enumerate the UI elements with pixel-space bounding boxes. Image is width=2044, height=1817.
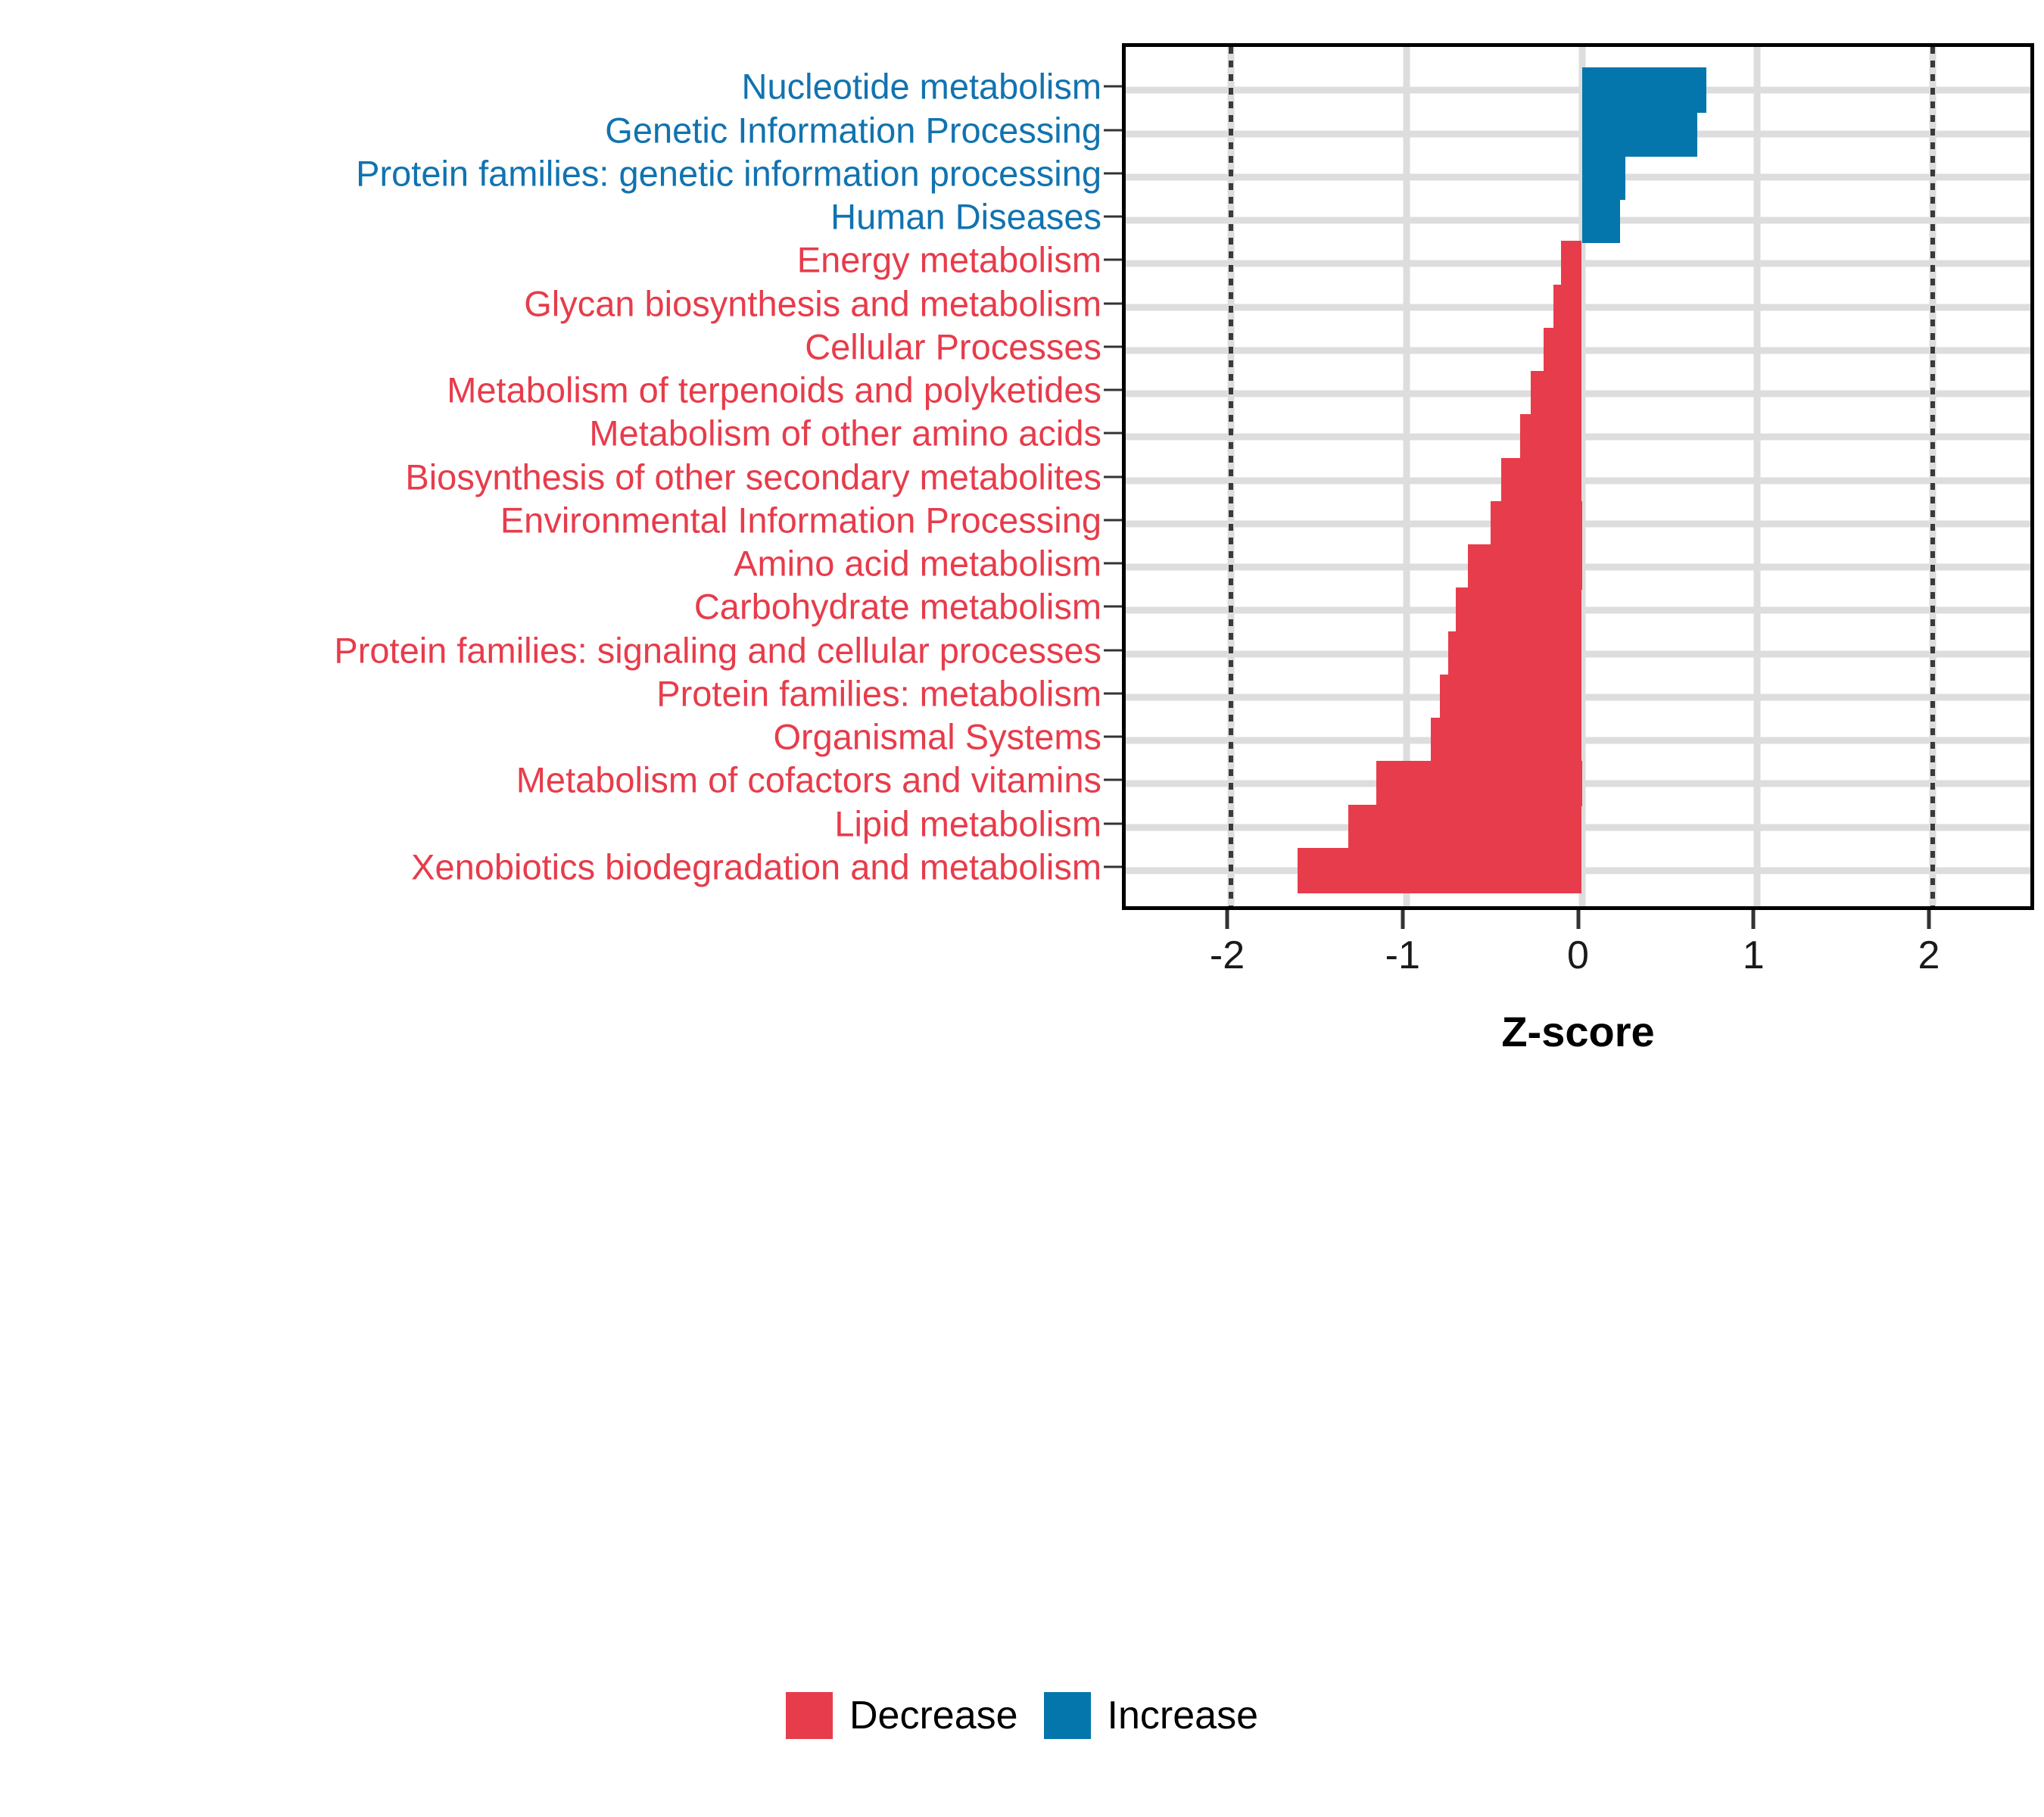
y-axis-tick-label: Human Diseases xyxy=(0,199,1101,235)
y-axis-tick-label: Environmental Information Processing xyxy=(0,502,1101,538)
legend-label: Increase xyxy=(1108,1693,1258,1738)
y-axis-tick-mark xyxy=(1104,302,1122,304)
x-axis-title: Z-score xyxy=(1122,1007,2034,1056)
x-axis-tick-mark xyxy=(1401,910,1404,929)
bar xyxy=(1448,631,1581,677)
y-axis-tick-label: Protein families: genetic information pr… xyxy=(0,155,1101,191)
x-axis-tick-label: 2 xyxy=(1918,933,1940,978)
horizontal-gridline xyxy=(1126,130,2030,137)
bar xyxy=(1468,544,1582,590)
y-axis-tick-mark xyxy=(1104,519,1122,521)
horizontal-gridline xyxy=(1126,87,2030,94)
reference-line xyxy=(1229,47,1233,906)
legend-entry[interactable]: Increase xyxy=(1044,1692,1258,1739)
x-axis-tick-label: -1 xyxy=(1385,933,1420,978)
x-axis: -2-1012 xyxy=(1122,910,2034,1001)
y-axis-tick-label: Glycan biosynthesis and metabolism xyxy=(0,285,1101,321)
y-axis-tick-mark xyxy=(1104,822,1122,824)
y-axis-tick-label: Metabolism of terpenoids and polyketides xyxy=(0,372,1101,408)
y-axis-tick-label: Metabolism of cofactors and vitamins xyxy=(0,762,1101,798)
y-axis-tick-label: Organismal Systems xyxy=(0,719,1101,755)
x-axis-tick-mark xyxy=(1752,910,1756,929)
y-axis-tick-mark xyxy=(1104,692,1122,694)
y-axis-tick-mark xyxy=(1104,649,1122,651)
y-axis-tick-mark xyxy=(1104,172,1122,174)
y-axis-tick-label: Protein families: metabolism xyxy=(0,675,1101,711)
bar xyxy=(1520,414,1581,460)
legend-swatch xyxy=(786,1692,833,1739)
y-axis-tick-mark xyxy=(1104,475,1122,478)
bar xyxy=(1582,198,1621,243)
y-axis-tick-mark xyxy=(1104,606,1122,608)
y-axis-tick-mark xyxy=(1104,259,1122,261)
bar xyxy=(1431,718,1581,763)
x-axis-tick-label: -2 xyxy=(1210,933,1245,978)
y-axis-tick-label: Cellular Processes xyxy=(0,329,1101,364)
bar xyxy=(1376,761,1581,806)
reference-line xyxy=(1930,47,1935,906)
y-axis-tick-label: Carbohydrate metabolism xyxy=(0,589,1101,625)
bar xyxy=(1348,805,1581,850)
y-axis-tick-mark xyxy=(1104,216,1122,218)
y-axis-tick-label: Metabolism of other amino acids xyxy=(0,416,1101,451)
x-axis-tick-mark xyxy=(1576,910,1580,929)
bar xyxy=(1582,154,1626,200)
bar xyxy=(1561,241,1582,286)
y-axis-tick-mark xyxy=(1104,865,1122,868)
y-axis-tick-label: Genetic Information Processing xyxy=(0,112,1101,148)
y-axis-tick-label: Protein families: signaling and cellular… xyxy=(0,632,1101,668)
y-axis-tick-mark xyxy=(1104,432,1122,435)
y-axis-tick-label: Nucleotide metabolism xyxy=(0,69,1101,104)
y-axis-label-column: Nucleotide metabolismGenetic Information… xyxy=(0,43,1122,910)
y-axis-tick-mark xyxy=(1104,129,1122,131)
horizontal-gridline xyxy=(1126,217,2030,224)
legend-swatch xyxy=(1044,1692,1091,1739)
legend-entry[interactable]: Decrease xyxy=(786,1692,1018,1739)
y-axis-tick-mark xyxy=(1104,779,1122,781)
bar xyxy=(1456,587,1582,633)
bar xyxy=(1582,111,1698,157)
legend-label: Decrease xyxy=(849,1693,1018,1738)
y-axis-tick-label: Lipid metabolism xyxy=(0,806,1101,841)
y-axis-tick-mark xyxy=(1104,563,1122,565)
y-axis-tick-label: Amino acid metabolism xyxy=(0,546,1101,581)
horizontal-gridline xyxy=(1126,173,2030,180)
y-axis-tick-mark xyxy=(1104,86,1122,88)
bar xyxy=(1501,458,1582,503)
y-axis-tick-mark xyxy=(1104,389,1122,391)
y-axis-tick-label: Energy metabolism xyxy=(0,242,1101,278)
chart-page: Nucleotide metabolismGenetic Information… xyxy=(0,0,2044,1817)
x-axis-tick-label: 1 xyxy=(1743,933,1765,978)
y-axis-tick-mark xyxy=(1104,736,1122,738)
bar xyxy=(1298,848,1581,893)
bar xyxy=(1491,501,1582,547)
bar xyxy=(1544,328,1582,373)
plot-panel xyxy=(1122,43,2034,910)
x-axis-tick-mark xyxy=(1927,910,1930,929)
x-axis-tick-label: 0 xyxy=(1567,933,1589,978)
bar xyxy=(1531,371,1581,416)
y-axis-tick-mark xyxy=(1104,345,1122,348)
legend: DecreaseIncrease xyxy=(0,1692,2044,1739)
bar xyxy=(1440,675,1582,720)
y-axis-tick-label: Biosynthesis of other secondary metaboli… xyxy=(0,459,1101,494)
bar xyxy=(1553,285,1581,330)
y-axis-tick-label: Xenobiotics biodegradation and metabolis… xyxy=(0,849,1101,884)
bar xyxy=(1582,67,1707,113)
x-axis-tick-mark xyxy=(1226,910,1229,929)
